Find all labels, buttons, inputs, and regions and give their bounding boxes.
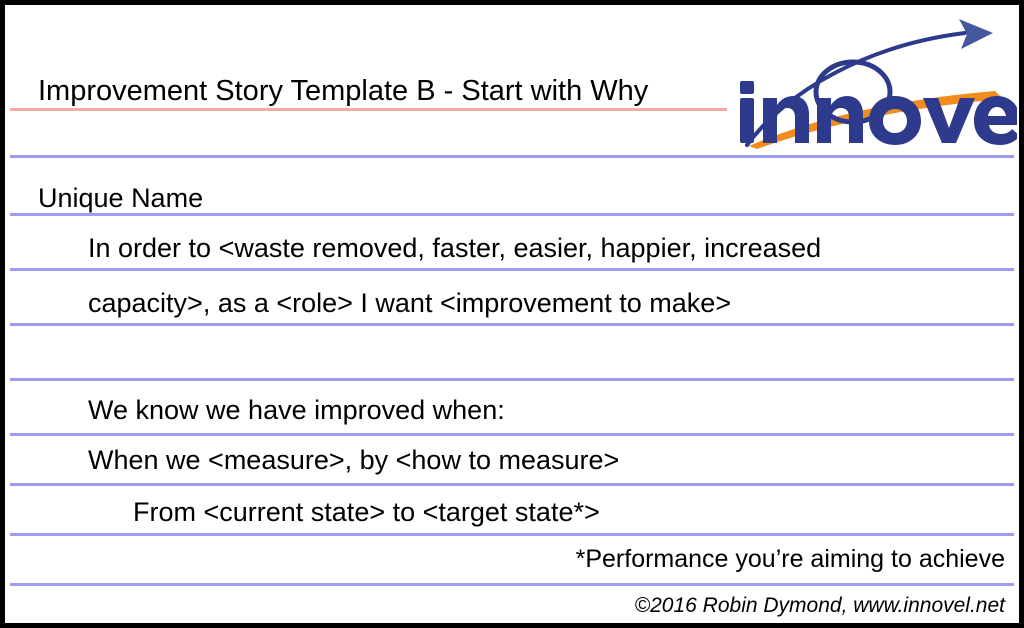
innovel-logo (727, 13, 1017, 151)
story-line-unique-name: Unique Name (38, 183, 203, 214)
rule-line-8 (10, 533, 1014, 536)
story-line-in-order-to: In order to <waste removed, faster, easi… (88, 233, 821, 264)
story-line-when-we-measure: When we <measure>, by <how to measure> (88, 445, 619, 476)
copyright-notice: ©2016 Robin Dymond, www.innovel.net (635, 594, 1005, 618)
rule-line-5 (10, 378, 1014, 381)
slide-canvas: Improvement Story Template B - Start wit… (0, 0, 1024, 628)
rule-line-7 (10, 483, 1014, 486)
story-line-capacity-role: capacity>, as a <role> I want <improveme… (88, 288, 731, 319)
rule-line-1 (10, 155, 1014, 158)
story-line-we-know: We know we have improved when: (88, 395, 505, 426)
footnote-performance: *Performance you’re aiming to achieve (576, 545, 1005, 574)
innovel-logo-graphic (727, 13, 1017, 151)
rule-line-3 (10, 268, 1014, 271)
story-line-from-to: From <current state> to <target state*> (133, 497, 600, 528)
slide-title: Improvement Story Template B - Start wit… (38, 75, 648, 108)
rule-line-4 (10, 323, 1014, 326)
rule-line-6 (10, 433, 1014, 436)
rule-line-9 (10, 583, 1014, 586)
